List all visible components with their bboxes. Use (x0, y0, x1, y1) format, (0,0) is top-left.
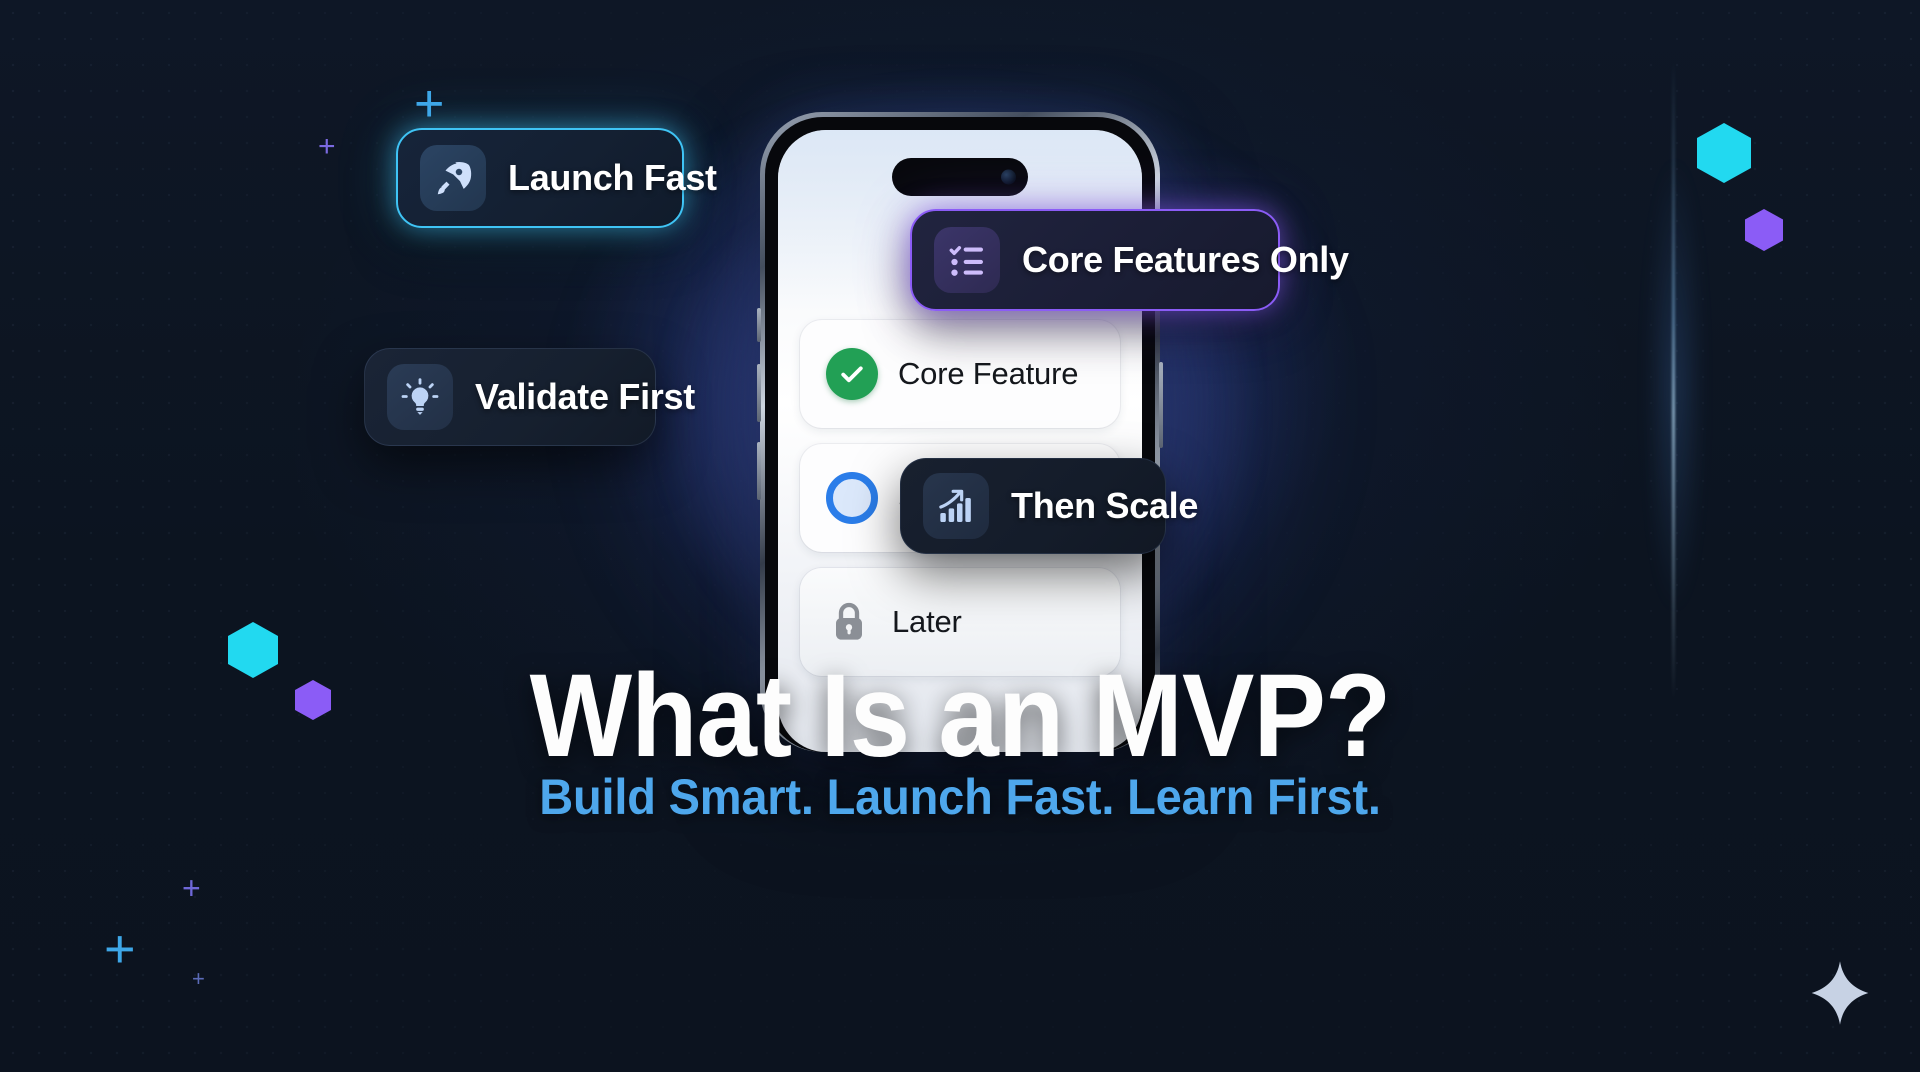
badge-core-features-only[interactable]: Core Features Only (910, 209, 1280, 311)
plus-decoration-large-bottom: + (104, 922, 136, 976)
phone-power-button (1159, 362, 1163, 448)
phone-volume-down-button (757, 442, 761, 500)
page-title: What Is an MVP? (77, 648, 1843, 784)
list-item-label: Core Feature (898, 356, 1078, 392)
badge-then-scale[interactable]: Then Scale (900, 458, 1166, 554)
hero-banner: Core Feature Should Have (0, 0, 1920, 1072)
lightbulb-icon (387, 364, 453, 430)
badge-launch-fast[interactable]: Launch Fast (396, 128, 684, 228)
hexagon-cyan-top-right (1697, 123, 1751, 183)
list-item-label: Later (892, 604, 962, 640)
lock-icon (826, 596, 872, 648)
phone-silent-switch (757, 308, 761, 342)
hexagon-purple-bottom-left (295, 680, 331, 720)
front-camera-icon (1001, 170, 1016, 185)
hexagon-purple-top-right (1745, 209, 1783, 251)
badge-label: Launch Fast (508, 157, 717, 199)
light-streak (1672, 60, 1675, 700)
hexagon-cyan-bottom-left (228, 622, 278, 678)
growth-chart-icon (923, 473, 989, 539)
list-item[interactable]: Core Feature (800, 320, 1120, 428)
check-circle-icon (826, 348, 878, 400)
page-subtitle: Build Smart. Launch Fast. Learn First. (58, 768, 1863, 826)
plus-decoration-small-bottom: + (182, 872, 201, 904)
rocket-icon (420, 145, 486, 211)
checklist-icon (934, 227, 1000, 293)
badge-validate-first[interactable]: Validate First (364, 348, 656, 446)
plus-decoration-large-top: + (414, 78, 444, 130)
phone-volume-up-button (757, 364, 761, 422)
empty-circle-icon (826, 472, 878, 524)
badge-label: Then Scale (1011, 485, 1198, 527)
plus-decoration-small-top: + (318, 132, 336, 162)
sparkle-icon (1806, 954, 1874, 1037)
dynamic-island (892, 158, 1028, 196)
badge-label: Core Features Only (1022, 239, 1349, 281)
plus-decoration-tiny-bottom: + (192, 968, 205, 990)
badge-label: Validate First (475, 376, 695, 418)
